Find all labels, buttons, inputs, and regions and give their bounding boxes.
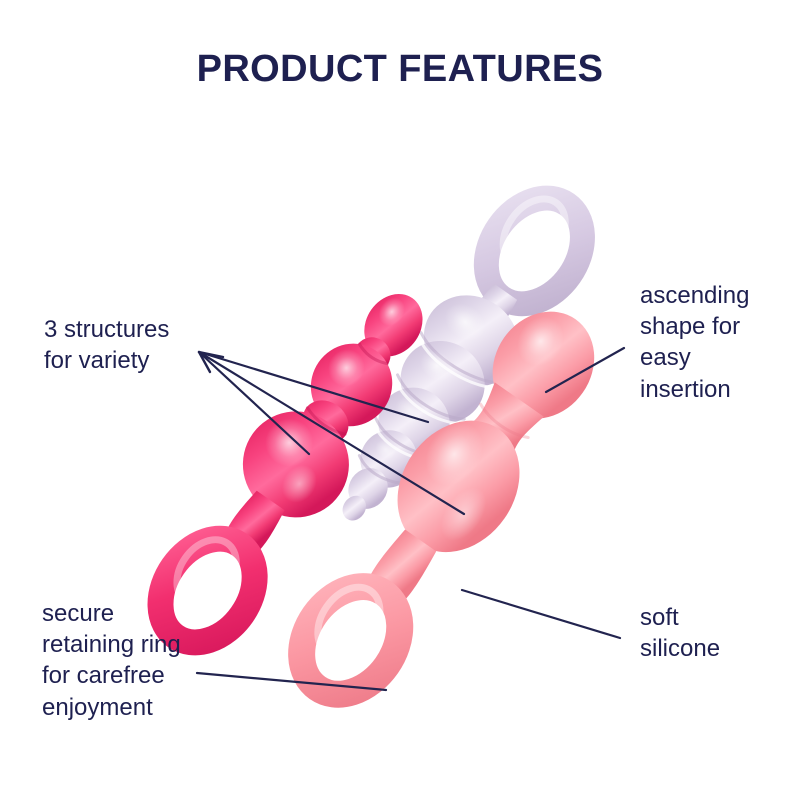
callout-soft-silicone: soft silicone bbox=[640, 602, 720, 664]
callout-3-structures: 3 structures for variety bbox=[44, 314, 169, 376]
infographic-canvas: PRODUCT FEATURES 3 structures for variet… bbox=[0, 0, 800, 800]
callout-secure-retaining-ring: secure retaining ring for carefree enjoy… bbox=[42, 598, 181, 723]
callout-ascending-shape: ascending shape for easy insertion bbox=[640, 280, 749, 405]
coral-retaining-ring bbox=[281, 568, 420, 713]
page-title: PRODUCT FEATURES bbox=[0, 48, 800, 91]
